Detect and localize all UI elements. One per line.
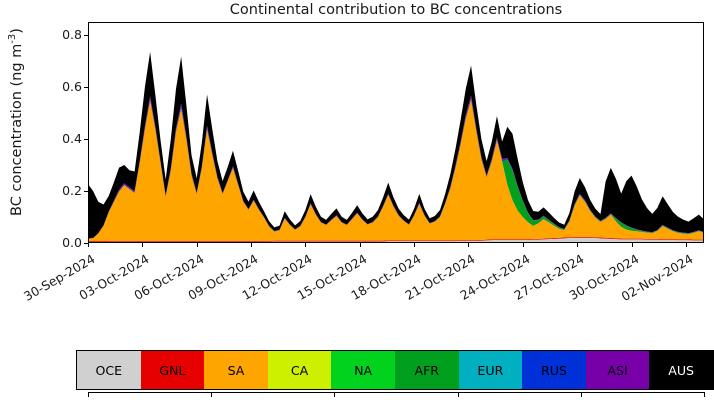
x-tick-mark [305, 243, 306, 247]
legend-item-asi[interactable]: ASI [586, 351, 650, 389]
x-tick-mark [577, 243, 578, 247]
plot-area [88, 22, 704, 243]
legend-axis-tick [581, 392, 582, 397]
legend-item-oce[interactable]: OCE [77, 351, 141, 389]
y-tick-label: 0.8 [48, 27, 82, 42]
y-axis-label: BC concentration (ng m-3) [0, 0, 26, 244]
legend-axis-tick [704, 392, 705, 397]
y-tick-label: 0.4 [48, 131, 82, 146]
figure-canvas: Continental contribution to BC concentra… [0, 0, 714, 402]
legend-axis-tick [334, 392, 335, 397]
x-tick-mark [197, 243, 198, 247]
y-tick-mark [84, 191, 88, 192]
y-axis-label-tail: ) [9, 28, 25, 34]
x-tick-mark [142, 243, 143, 247]
y-tick-mark [84, 87, 88, 88]
legend-axis [88, 392, 704, 402]
legend-item-aus[interactable]: AUS [649, 351, 713, 389]
chart-title: Continental contribution to BC concentra… [88, 2, 704, 18]
area-series-group [88, 52, 704, 243]
x-tick-mark [414, 243, 415, 247]
x-tick-mark [523, 243, 524, 247]
y-axis-label-text: BC concentration (ng m [9, 44, 25, 216]
legend: OCEGNLSACANAAFREURRUSASIAUS [76, 350, 714, 390]
y-axis-label-exponent: -3 [7, 34, 18, 44]
x-tick-mark [88, 243, 89, 247]
y-tick-label: 0.2 [48, 183, 82, 198]
legend-item-eur[interactable]: EUR [459, 351, 523, 389]
legend-item-na[interactable]: NA [331, 351, 395, 389]
legend-axis-line [88, 392, 704, 393]
legend-item-afr[interactable]: AFR [395, 351, 459, 389]
legend-item-sa[interactable]: SA [204, 351, 268, 389]
x-tick-mark [632, 243, 633, 247]
legend-axis-tick [211, 392, 212, 397]
legend-item-ca[interactable]: CA [268, 351, 332, 389]
x-tick-mark [251, 243, 252, 247]
x-tick-mark [468, 243, 469, 247]
legend-item-rus[interactable]: RUS [522, 351, 586, 389]
x-tick-mark [686, 243, 687, 247]
stacked-area-chart [88, 22, 704, 243]
x-tick-mark [360, 243, 361, 247]
y-tick-mark [84, 35, 88, 36]
legend-axis-tick [458, 392, 459, 397]
y-tick-label: 0.0 [48, 235, 82, 250]
y-tick-mark [84, 139, 88, 140]
legend-axis-tick [88, 392, 89, 397]
legend-item-gnl[interactable]: GNL [141, 351, 205, 389]
y-tick-label: 0.6 [48, 79, 82, 94]
